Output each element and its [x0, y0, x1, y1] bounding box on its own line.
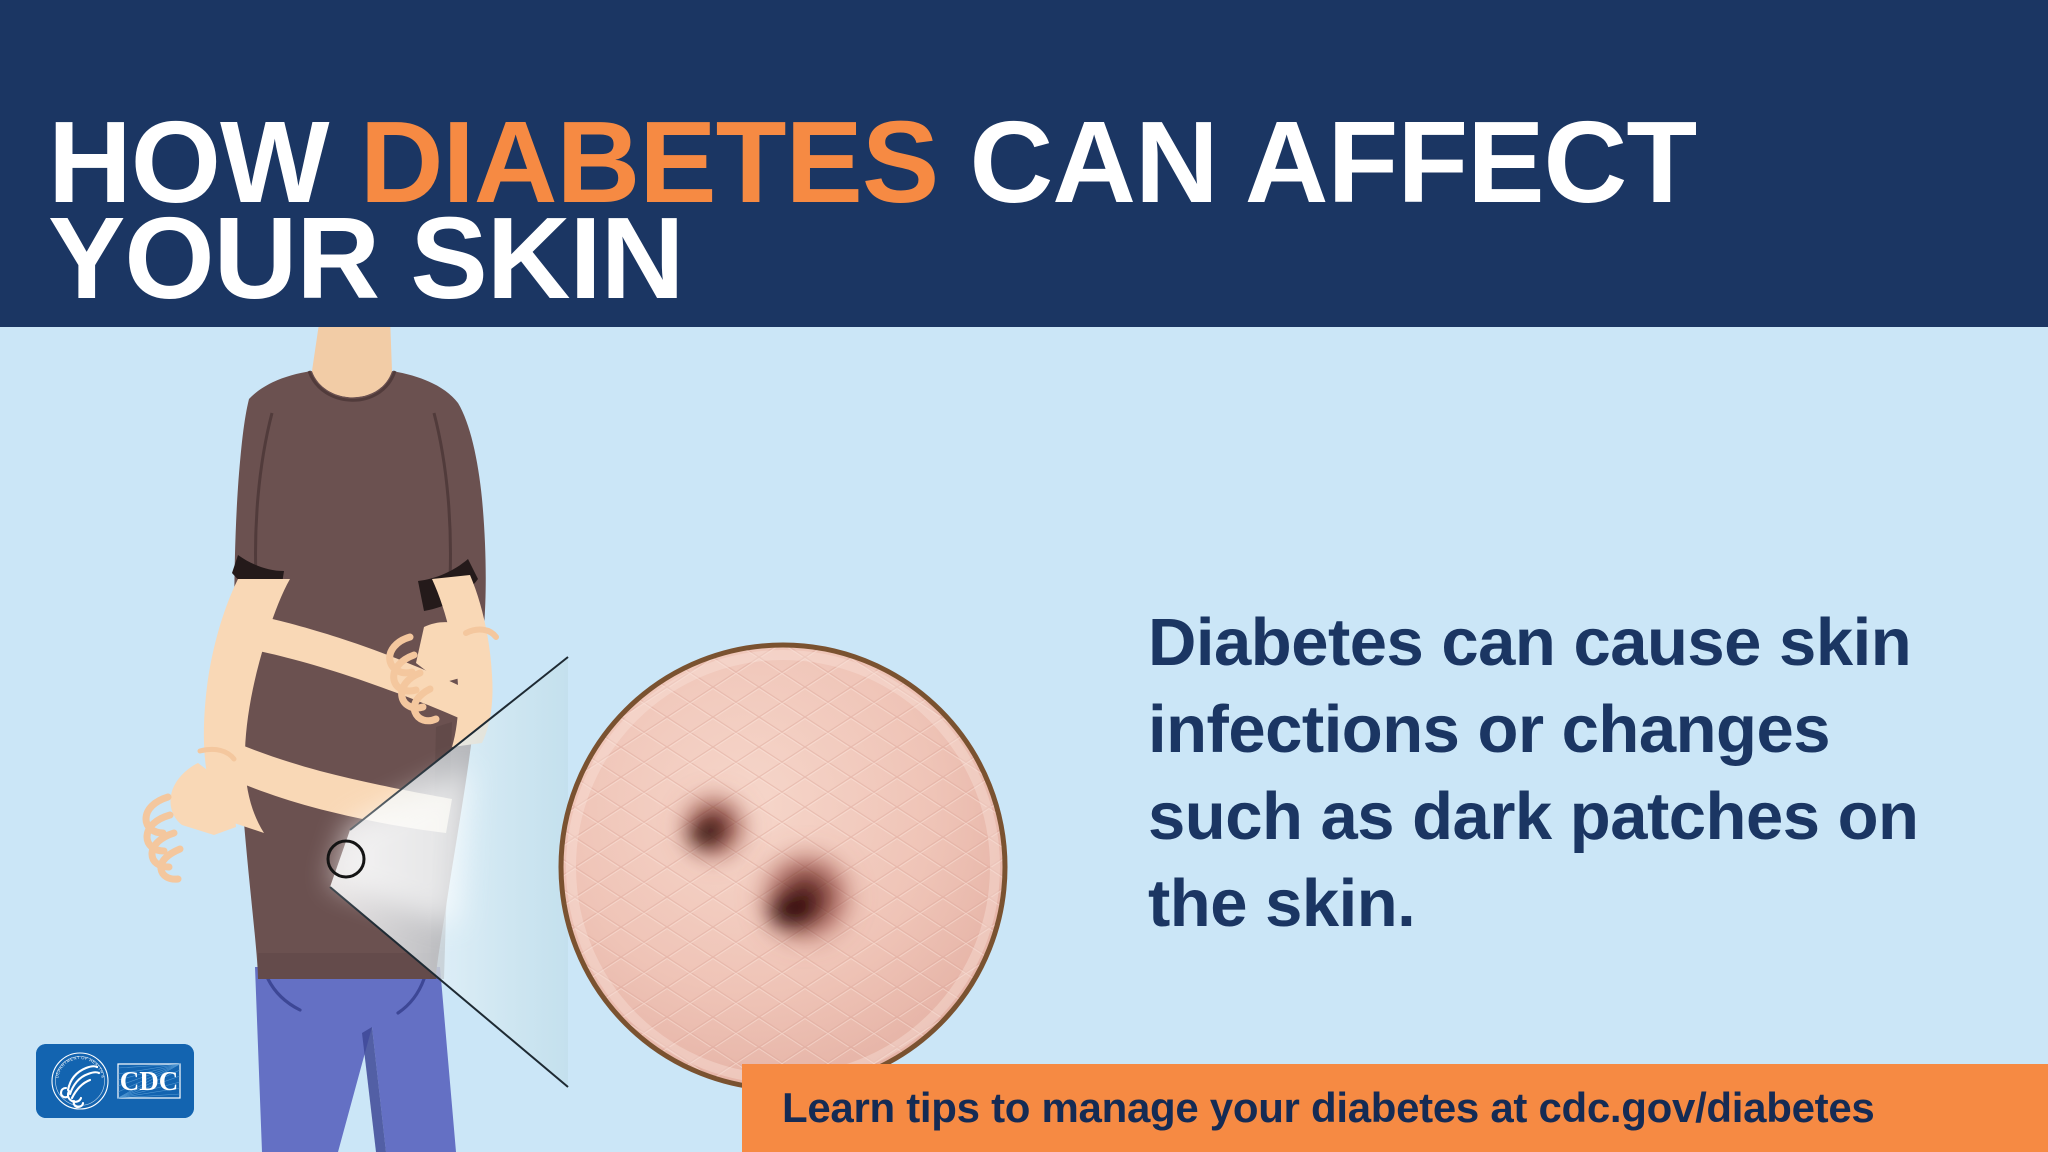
- cdc-logo-graphic: DEPARTMENT OF HEALTH & HUMAN SERVICES US…: [36, 1044, 194, 1118]
- pants: [255, 967, 456, 1152]
- body-copy: Diabetes can cause skin infections or ch…: [1148, 599, 1978, 947]
- illustration-man-with-magnified-skin: [0, 327, 1100, 1152]
- header-band: HOW DIABETES CAN AFFECT YOUR SKIN: [0, 0, 2048, 327]
- magnified-skin-circle: [561, 645, 1005, 1089]
- cdc-wordmark-text: CDC: [120, 1066, 179, 1096]
- dark-patch-lower-right: [751, 842, 861, 952]
- cdc-logo[interactable]: DEPARTMENT OF HEALTH & HUMAN SERVICES US…: [36, 1044, 194, 1118]
- cta-banner[interactable]: Learn tips to manage your diabetes at cd…: [742, 1064, 2048, 1152]
- body-area: Diabetes can cause skin infections or ch…: [0, 327, 2048, 1152]
- dark-patch-upper-left: [674, 787, 754, 867]
- infographic-canvas: HOW DIABETES CAN AFFECT YOUR SKIN: [0, 0, 2048, 1152]
- cdc-wordmark: CDC: [118, 1064, 180, 1098]
- person-figure: [146, 327, 496, 1152]
- cta-text: Learn tips to manage your diabetes at cd…: [782, 1084, 1874, 1132]
- page-title: HOW DIABETES CAN AFFECT YOUR SKIN: [48, 114, 1988, 306]
